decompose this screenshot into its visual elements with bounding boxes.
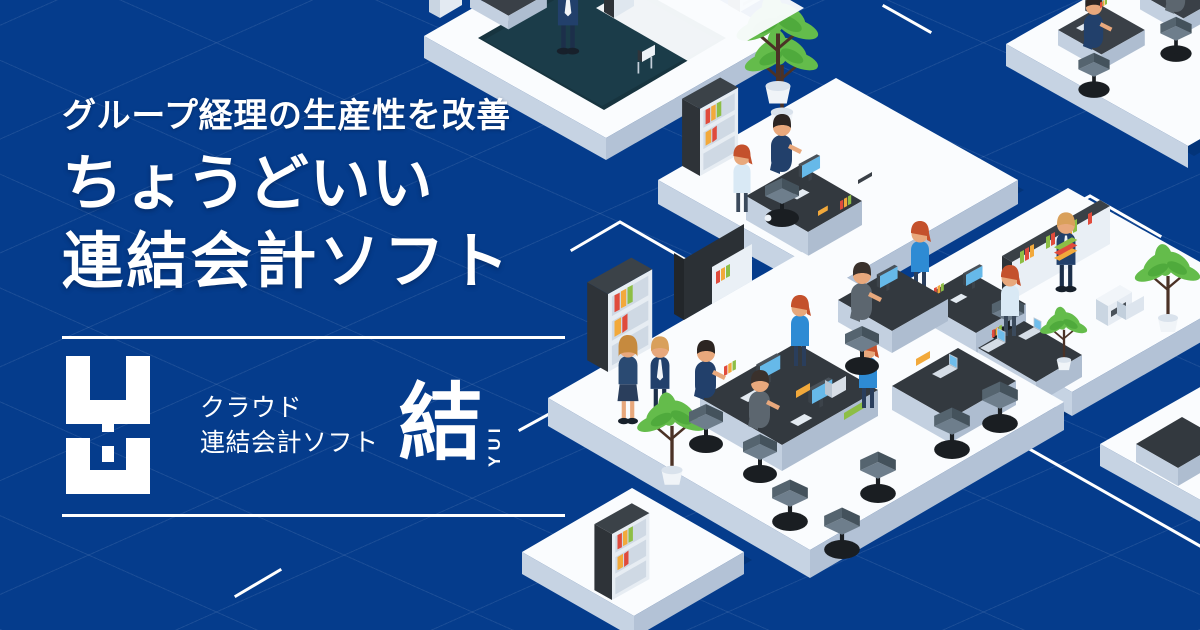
isometric-office-illustration (0, 0, 1200, 630)
office-platform-top-right (1006, 0, 1200, 168)
office-platform-left-edge (150, 562, 356, 630)
headline-text: ちょうどいい 連結会計ソフト (62, 144, 622, 300)
divider-top (62, 336, 565, 339)
headline-line-2: 連結会計ソフト (62, 222, 622, 300)
office-platform-bottom-right (1100, 386, 1200, 524)
promotional-banner: グループ経理の生産性を改善 ちょうどいい 連結会計ソフト クラ (0, 0, 1200, 630)
logo-lockup: クラウド 連結会計ソフト 結 YUI (62, 352, 503, 500)
yui-logo-mark-icon (62, 352, 158, 500)
headline-line-1: ちょうどいい (62, 144, 622, 222)
logo-subtitle-line-1: クラウド (200, 391, 379, 427)
logo-subtitle: クラウド 連結会計ソフト (200, 391, 379, 462)
logo-subtitle-line-2: 連結会計ソフト (200, 426, 379, 462)
headline-copy: グループ経理の生産性を改善 ちょうどいい 連結会計ソフト (62, 96, 622, 300)
product-kanji: 結 (399, 385, 483, 462)
eyebrow-text: グループ経理の生産性を改善 (62, 96, 622, 136)
product-romaji: YUI (486, 391, 503, 467)
divider-bottom (62, 514, 565, 517)
logo-text-group: クラウド 連結会計ソフト 結 YUI (200, 385, 503, 467)
product-name: 結 YUI (399, 385, 503, 467)
